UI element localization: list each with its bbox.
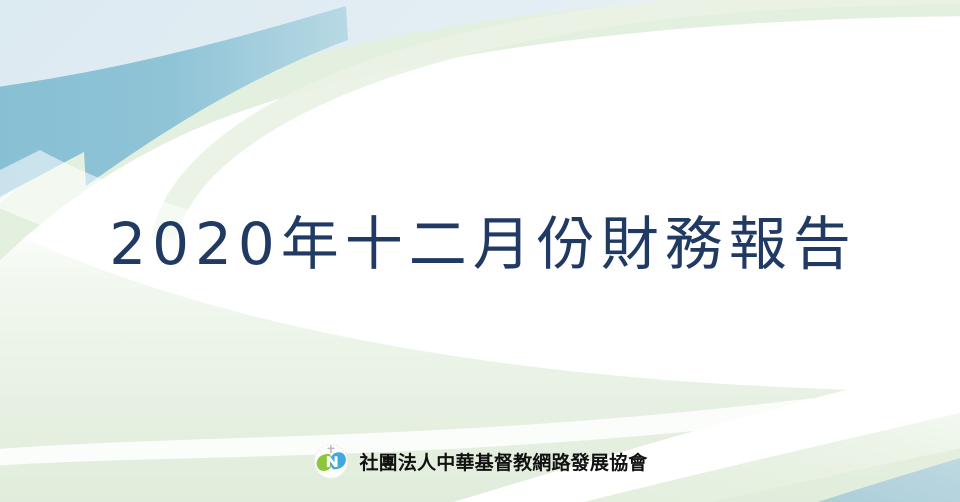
slide-canvas: 2020年十二月份財務報告 社團法人中華基督教網路發展協會 xyxy=(0,0,960,502)
footer-organization-lockup: 社團法人中華基督教網路發展協會 xyxy=(0,438,960,484)
organization-name: 社團法人中華基督教網路發展協會 xyxy=(359,448,647,475)
association-logo-icon xyxy=(312,442,350,480)
page-title: 2020年十二月份財務報告 xyxy=(103,214,857,275)
title-block: 2020年十二月份財務報告 xyxy=(0,196,960,292)
